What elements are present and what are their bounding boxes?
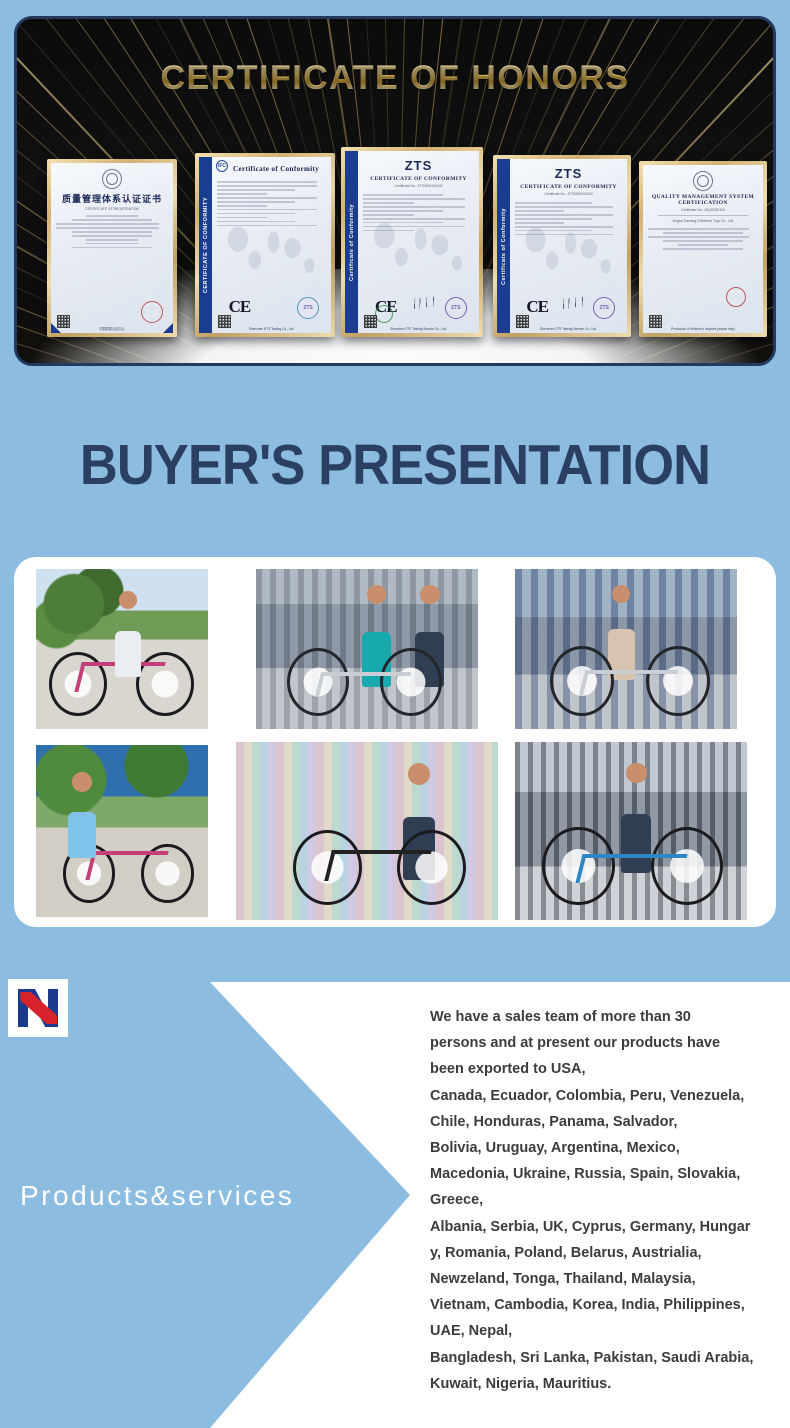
world-map-watermark xyxy=(365,213,471,289)
intro-line: been exported to USA, xyxy=(430,1056,778,1082)
intro-line: Kuwait, Nigeria, Mauritius. xyxy=(430,1371,778,1397)
logo-mark-icon xyxy=(18,989,58,1027)
intro-line: persons and at present our products have xyxy=(430,1030,778,1056)
zts-logo: ZTS xyxy=(515,166,622,181)
zts-seal-icon xyxy=(445,297,467,319)
world-map-watermark xyxy=(517,218,620,291)
intro-line: UAE, Nepal, xyxy=(430,1318,778,1344)
certificate-quality-management-system[interactable]: QUALITY MANAGEMENT SYSTEM CERTIFICATION … xyxy=(639,161,767,337)
certificate-heading: Certificate of Conformity xyxy=(217,165,326,173)
signature xyxy=(560,295,597,309)
intro-line: Macedonia, Ukraine, Russia, Spain, Slova… xyxy=(430,1161,778,1187)
certificate-conformity-zts-1[interactable]: Certificate of Conformity ZTS CERTIFICAT… xyxy=(341,147,483,337)
photo-toddler-pink-bike[interactable] xyxy=(36,745,208,917)
intro-line: Newzeland, Tonga, Thailand, Malaysia, xyxy=(430,1266,778,1292)
intro-line: Bangladesh, Sri Lanka, Pakistan, Saudi A… xyxy=(430,1345,778,1371)
certificate-applicant: Xingtai Tianxing Children's Toys Co., Lt… xyxy=(648,219,758,223)
photo-man-blue-bike[interactable] xyxy=(515,742,747,920)
certificate-side-band: CERTIFICATE OF CONFORMITY xyxy=(199,157,212,333)
intro-line: Greece, xyxy=(430,1187,778,1213)
certificate-heading: QUALITY MANAGEMENT SYSTEM CERTIFICATION xyxy=(648,194,758,206)
certificate-number: Certificate No.: ZTS0601911043 xyxy=(515,192,622,196)
intro-line: Bolivia, Uruguay, Argentina, Mexico, xyxy=(430,1135,778,1161)
zts-logo: ZTS xyxy=(363,158,474,173)
certificate-conformity-zts-2[interactable]: Certificate of Conformity ZTS CERTIFICAT… xyxy=(493,155,631,337)
company-logo[interactable] xyxy=(8,979,68,1037)
intro-line: Albania, Serbia, UK, Cyprus, Germany, Hu… xyxy=(430,1214,778,1240)
intro-line: Canada, Ecuador, Colombia, Peru, Venezue… xyxy=(430,1083,778,1109)
certificate-footer: Shenzhen BTS Testing Co., Ltd. xyxy=(212,327,331,331)
intro-line: y, Romania, Poland, Belarus, Austrialia, xyxy=(430,1240,778,1266)
page-title: CERTIFICATE OF HONORS xyxy=(17,59,773,98)
intro-line: We have a sales team of more than 30 xyxy=(430,1004,778,1030)
certificate-quality-management-cn[interactable]: 质量管理体系认证证书 CERTIFICATE OF REGISTRATION 中… xyxy=(47,159,177,337)
buyers-presentation-heading: BUYER'S PRESENTATION xyxy=(32,432,759,498)
world-map-watermark xyxy=(219,217,324,291)
emblem-icon xyxy=(102,169,122,189)
intro-line: Vietnam, Cambodia, Korea, India, Philipp… xyxy=(430,1292,778,1318)
certificate-row: 质量管理体系认证证书 CERTIFICATE OF REGISTRATION 中… xyxy=(17,147,773,337)
certificate-heading: CERTIFICATE OF CONFORMITY xyxy=(363,176,474,182)
emblem-icon xyxy=(693,171,713,191)
zts-seal-icon xyxy=(593,297,615,319)
certificate-footer: Shenzhen ZTS Testing Service Co., Ltd. xyxy=(358,327,479,331)
red-seal-icon xyxy=(141,301,163,323)
photo-woman-shop[interactable] xyxy=(515,569,737,729)
photo-two-men-shop[interactable] xyxy=(256,569,478,729)
signature xyxy=(411,295,448,309)
certificate-sub: CERTIFICATE OF REGISTRATION xyxy=(56,207,168,211)
company-intro-text: We have a sales team of more than 30pers… xyxy=(430,1004,778,1397)
certificate-banner: CERTIFICATE OF HONORS 质量管理体系认证证书 CERTIFI… xyxy=(14,16,776,366)
certificate-side-band: Certificate of Conformity xyxy=(497,159,510,333)
certificate-footer: 中国质量认证中心 xyxy=(51,326,173,331)
products-services-label: Products&services xyxy=(20,1180,420,1212)
certificate-heading: 质量管理体系认证证书 xyxy=(56,192,168,205)
blue-seal-icon xyxy=(297,297,319,319)
certificate-number: Certificate No.: ZTS0601911042 xyxy=(363,184,474,188)
divider xyxy=(658,215,748,216)
red-seal-icon xyxy=(726,287,746,307)
ce-mark: CE xyxy=(229,297,251,317)
buyer-photo-grid xyxy=(14,557,776,927)
ifc-logo-icon: IFC xyxy=(216,160,228,172)
certificate-body-lines xyxy=(56,215,168,248)
certificate-footer: Production of children's bicycles (expor… xyxy=(643,327,763,331)
photo-man-black-bike[interactable] xyxy=(236,742,498,920)
corner-decor-right xyxy=(163,323,173,333)
ce-mark: CE xyxy=(526,297,548,317)
certificate-footer: Shenzhen ZTS Testing Service Co., Ltd. xyxy=(510,327,627,331)
photo-girl-pink-bike[interactable] xyxy=(36,569,208,729)
certificate-heading: CERTIFICATE OF CONFORMITY xyxy=(515,184,622,190)
certificate-conformity-ifc[interactable]: CERTIFICATE OF CONFORMITY Certificate of… xyxy=(195,153,335,337)
intro-line: Chile, Honduras, Panama, Salvador, xyxy=(430,1109,778,1135)
green-eco-seal-icon xyxy=(375,305,393,323)
corner-decor-left xyxy=(51,323,61,333)
certificate-number: Certificate No.: 00Q00Q9100 xyxy=(648,208,758,212)
certificate-side-band: Certificate of Conformity xyxy=(345,151,358,333)
certificate-body-lines xyxy=(648,228,758,250)
